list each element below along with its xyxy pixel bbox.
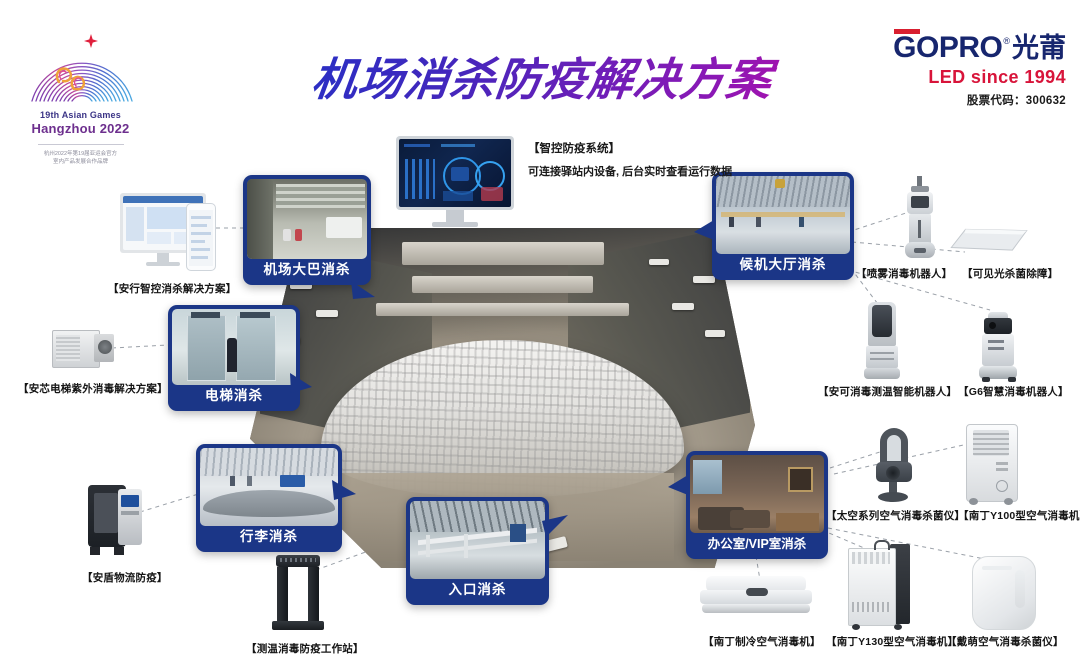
device-anxing-monitor xyxy=(120,193,224,275)
device-spray-robot xyxy=(900,176,940,262)
callout-card-bus[interactable]: 机场大巴消杀 xyxy=(243,175,371,285)
card-caption-baggage: 行李消杀 xyxy=(200,526,338,548)
poster-canvas: 19th Asian Games Hangzhou 2022 杭州2022年第1… xyxy=(0,0,1080,667)
device-smart-control-monitor xyxy=(396,136,514,232)
brand-block: GOPRO ® 光莆 LED since 1994 股票代码：300632 xyxy=(858,32,1066,108)
device-label-g6-bot: 【G6智慧消毒机器人】 xyxy=(958,384,1069,399)
photo-hall xyxy=(716,176,850,254)
brand-stock-code: 股票代码：300632 xyxy=(858,92,1066,108)
brand-tagline: LED since 1994 xyxy=(858,67,1066,88)
card-caption-entrance: 入口消杀 xyxy=(410,579,545,601)
asian-games-logo: 19th Asian Games Hangzhou 2022 杭州2022年第1… xyxy=(18,30,143,165)
device-g6-robot xyxy=(976,312,1022,384)
brand-registered-mark: ® xyxy=(1003,36,1010,46)
device-label-station: 【测温消毒防疫工作站】 xyxy=(246,641,364,656)
device-label-nd-cool: 【南丁制冷空气消毒机】 xyxy=(703,634,821,649)
callout-card-elevator[interactable]: 电梯消杀 xyxy=(168,305,300,411)
device-nd-cooling-sterilizer xyxy=(700,576,812,618)
device-y130-air-sterilizer xyxy=(846,540,912,630)
device-space-air-sterilizer xyxy=(872,428,916,504)
device-andun-logistics xyxy=(88,485,144,555)
device-label-anke-bot: 【安可消毒测温智能机器人】 xyxy=(818,384,957,399)
device-anxin-lift-unit xyxy=(52,326,114,370)
brand-name: GOPRO xyxy=(893,33,1002,63)
device-label-uv-panel: 【可见光杀菌除障】 xyxy=(962,266,1058,281)
card-caption-office: 办公室/VIP室消杀 xyxy=(690,533,824,555)
device-temperature-station xyxy=(270,555,326,631)
callout-card-entrance[interactable]: 入口消杀 xyxy=(406,497,549,605)
photo-baggage xyxy=(200,448,338,526)
device-daimeng-sterilizer xyxy=(972,556,1034,628)
photo-office xyxy=(690,455,824,533)
device-uv-panel xyxy=(950,228,1028,254)
device-label-anxin-lift: 【安芯电梯紫外消毒解决方案】 xyxy=(18,381,168,396)
callout-card-office[interactable]: 办公室/VIP室消杀 xyxy=(686,451,828,559)
photo-elevator xyxy=(172,309,296,385)
device-label-daimeng: 【戴萌空气消毒杀菌仪】 xyxy=(946,634,1064,649)
device-label-y100: 【南丁Y100型空气消毒机】 xyxy=(958,508,1080,523)
system-note-desc: 可连接驿站内设备, 后台实时查看运行数据 xyxy=(528,163,732,179)
asian-games-line1: 19th Asian Games xyxy=(18,110,143,120)
device-label-space-air: 【太空系列空气消毒杀菌仪】 xyxy=(826,508,965,523)
system-note-title: 【智控防疫系统】 xyxy=(528,140,620,156)
asian-games-line2: Hangzhou 2022 xyxy=(18,121,143,136)
asian-games-fan-icon xyxy=(28,46,136,104)
logo-divider xyxy=(38,144,124,145)
page-title: 机场消杀防疫解决方案 xyxy=(309,52,786,108)
card-caption-bus: 机场大巴消杀 xyxy=(247,259,367,281)
callout-card-hall[interactable]: 候机大厅消杀 xyxy=(712,172,854,280)
card-caption-elevator: 电梯消杀 xyxy=(172,385,296,407)
device-anke-robot xyxy=(860,302,904,380)
asian-games-subtext: 杭州2022年第19届亚运会官方 室内产品发展合作品牌 xyxy=(18,150,143,166)
device-y100-air-sterilizer xyxy=(966,424,1016,506)
device-label-andun: 【安盾物流防疫】 xyxy=(82,570,168,585)
device-label-y130: 【南丁Y130型空气消毒机】 xyxy=(826,634,958,649)
card-caption-hall: 候机大厅消杀 xyxy=(716,254,850,276)
callout-card-baggage[interactable]: 行李消杀 xyxy=(196,444,342,552)
brand-name-cn: 光莆 xyxy=(1012,33,1066,63)
device-label-anxing: 【安行智控消杀解决方案】 xyxy=(108,281,236,296)
photo-entrance xyxy=(410,501,545,579)
photo-bus xyxy=(247,179,367,259)
device-label-spray-bot: 【喷雾消毒机器人】 xyxy=(856,266,952,281)
